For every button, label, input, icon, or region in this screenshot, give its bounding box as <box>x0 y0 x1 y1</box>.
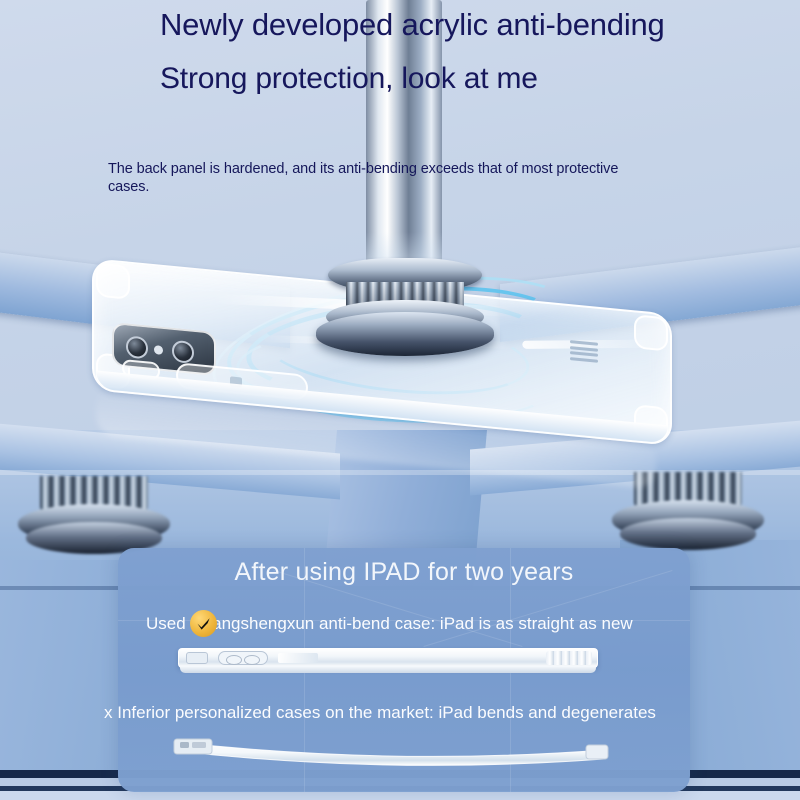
press-base-disc <box>316 312 494 356</box>
straight-case-pencil-slot <box>218 651 268 665</box>
comparison-panel: After using IPAD for two years Used Chan… <box>118 548 690 792</box>
headline-secondary: Strong protection, look at me <box>160 62 680 96</box>
comparison-title: After using IPAD for two years <box>118 558 690 587</box>
headline-block: Newly developed acrylic anti-bending Str… <box>160 8 680 96</box>
camera-flash-icon <box>154 345 163 355</box>
straight-case-button-cutout <box>186 652 208 664</box>
headline-primary: Newly developed acrylic anti-bending <box>160 8 680 42</box>
bent-ipad-image <box>170 732 610 770</box>
camera-lens-icon <box>126 335 148 359</box>
body-description: The back panel is hardened, and its anti… <box>108 160 648 196</box>
straight-case-notch <box>278 653 318 663</box>
product-marketing-image: Newly developed acrylic anti-bending Str… <box>0 0 800 800</box>
side-press-right-disc-lower <box>620 518 756 550</box>
corner-bumper-top-left <box>96 262 130 299</box>
straight-ipad-case-image <box>178 648 598 668</box>
camera-lens-secondary-icon <box>172 340 194 364</box>
speaker-grille-icon <box>570 340 598 363</box>
comparison-bad-label: x Inferior personalized cases on the mar… <box>104 703 656 723</box>
floor-light-band-2 <box>0 791 800 800</box>
straight-case-lip <box>180 666 596 673</box>
comparison-good-label: Used Changshengxun anti-bend case: iPad … <box>146 614 633 634</box>
straight-case-right-detail <box>546 651 592 665</box>
check-badge-icon <box>190 610 217 637</box>
